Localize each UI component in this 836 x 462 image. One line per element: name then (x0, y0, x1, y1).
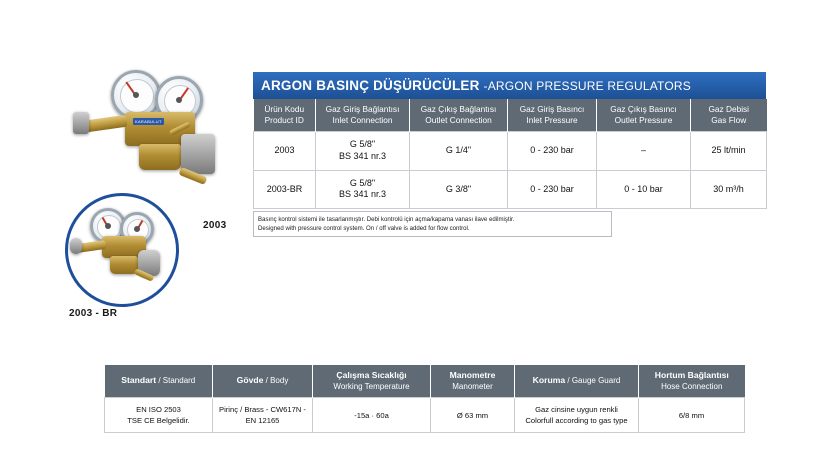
cell-gas-flow: 30 m³/h (691, 170, 767, 208)
product-photo-area: KARABULUT 2003 2003 - BR (55, 68, 250, 298)
col-inlet-pressure-en: Inlet Pressure (512, 115, 592, 126)
col-body-en: Body (270, 376, 288, 385)
col-outlet-connection: Gaz Çıkış Bağlantısı Outlet Connection (410, 99, 508, 132)
table-row: EN ISO 2503 TSE CE Belgelidir. Pirinç / … (105, 398, 745, 433)
cell-standard-line2: TSE CE Belgelidir. (108, 415, 209, 426)
col-standard-sep: / (156, 376, 163, 385)
cell-hose-connection: 6/8 mm (639, 398, 745, 433)
spec-table: Ürün Kodu Product ID Gaz Giriş Bağlantıs… (253, 99, 767, 209)
cell-inlet-connection-line2: BS 341 nr.3 (320, 189, 405, 201)
cell-product-id: 2003-BR (254, 170, 316, 208)
cell-inlet-pressure: 0 - 230 bar (508, 170, 597, 208)
col-hose-connection-tr: Hortum Bağlantısı (642, 370, 742, 382)
col-standard-en: Standard (163, 376, 195, 385)
section-title-tr: ARGON BASINÇ DÜŞÜRÜCÜLER (261, 78, 480, 93)
general-properties-table: Standart / Standard Gövde / Body Çalışma… (104, 365, 744, 433)
col-working-temperature-tr: Çalışma Sıcaklığı (316, 370, 427, 382)
cell-gauge-guard-line2: Colorfull according to gas type (518, 415, 635, 426)
cell-standard: EN ISO 2503 TSE CE Belgelidir. (105, 398, 213, 433)
col-working-temperature-en: Working Temperature (316, 382, 427, 393)
col-manometer-en: Manometer (434, 382, 511, 393)
regulator-lower-body (139, 144, 181, 170)
col-outlet-connection-en: Outlet Connection (414, 115, 503, 126)
note-box: Basınç kontrol sistemi ile tasarlanmıştı… (253, 211, 612, 237)
caption-product-2003: 2003 (203, 220, 226, 231)
cell-inlet-connection-line1: G 5/8" (320, 139, 405, 151)
cell-inlet-connection: G 5/8" BS 341 nr.3 (316, 170, 410, 208)
col-hose-connection-en: Hose Connection (642, 382, 742, 393)
bottom-table-header-row: Standart / Standard Gövde / Body Çalışma… (105, 365, 745, 398)
col-inlet-pressure: Gaz Giriş Basıncı Inlet Pressure (508, 99, 597, 132)
col-gauge-guard-tr: Koruma (533, 375, 565, 385)
col-outlet-pressure: Gaz Çıkış Basıncı Outlet Pressure (597, 99, 691, 132)
cell-inlet-connection-line1: G 5/8" (320, 178, 405, 190)
caption-product-2003-br: 2003 - BR (69, 308, 117, 319)
col-manometer-tr: Manometre (434, 370, 511, 382)
cell-inlet-connection: G 5/8" BS 341 nr.3 (316, 132, 410, 170)
col-gauge-guard: Koruma / Gauge Guard (515, 365, 639, 398)
cell-working-temperature: -15a · 60a (313, 398, 431, 433)
cell-body-line1: Pirinç / Brass - CW617N - (216, 404, 309, 415)
col-standard: Standart / Standard (105, 365, 213, 398)
col-gas-flow-en: Gas Flow (695, 115, 763, 126)
col-inlet-pressure-tr: Gaz Giriş Basıncı (512, 104, 592, 115)
cell-gauge-guard: Gaz cinsine uygun renkli Colorfull accor… (515, 398, 639, 433)
argon-regulators-block: ARGON BASINÇ DÜŞÜRÜCÜLER -ARGON PRESSURE… (253, 72, 766, 237)
cell-outlet-pressure: 0 - 10 bar (597, 170, 691, 208)
inset-inlet-nut (70, 238, 82, 254)
inlet-nut (73, 112, 89, 134)
col-inlet-connection: Gaz Giriş Bağlantısı Inlet Connection (316, 99, 410, 132)
col-outlet-pressure-en: Outlet Pressure (601, 115, 686, 126)
cell-outlet-connection: G 1/4" (410, 132, 508, 170)
brand-chip: KARABULUT (133, 118, 164, 125)
col-gas-flow: Gaz Debisi Gas Flow (691, 99, 767, 132)
note-line-tr: Basınç kontrol sistemi ile tasarlanmıştı… (258, 215, 607, 224)
cell-manometer: Ø 63 mm (431, 398, 515, 433)
product-inset-circle (65, 193, 179, 307)
col-gas-flow-tr: Gaz Debisi (695, 104, 763, 115)
section-title-en: -ARGON PRESSURE REGULATORS (484, 79, 691, 93)
col-body: Gövde / Body (213, 365, 313, 398)
col-product-id-en: Product ID (258, 115, 312, 126)
cell-inlet-pressure: 0 - 230 bar (508, 132, 597, 170)
col-body-tr: Gövde (237, 375, 264, 385)
col-working-temperature: Çalışma Sıcaklığı Working Temperature (313, 365, 431, 398)
regulator-main-illustration: KARABULUT (73, 68, 248, 193)
cell-outlet-pressure: – (597, 132, 691, 170)
table-row: 2003 G 5/8" BS 341 nr.3 G 1/4" 0 - 230 b… (254, 132, 767, 170)
col-product-id: Ürün Kodu Product ID (254, 99, 316, 132)
cell-product-id: 2003 (254, 132, 316, 170)
col-outlet-connection-tr: Gaz Çıkış Bağlantısı (414, 104, 503, 115)
col-standard-tr: Standart (121, 375, 156, 385)
col-gauge-guard-en: Gauge Guard (572, 376, 620, 385)
section-header: ARGON BASINÇ DÜŞÜRÜCÜLER -ARGON PRESSURE… (253, 72, 766, 99)
col-inlet-connection-tr: Gaz Giriş Bağlantısı (320, 104, 405, 115)
col-hose-connection: Hortum Bağlantısı Hose Connection (639, 365, 745, 398)
table-row: 2003-BR G 5/8" BS 341 nr.3 G 3/8" 0 - 23… (254, 170, 767, 208)
col-outlet-pressure-tr: Gaz Çıkış Basıncı (601, 104, 686, 115)
col-product-id-tr: Ürün Kodu (258, 104, 312, 115)
cell-body-line2: EN 12165 (216, 415, 309, 426)
col-manometer: Manometre Manometer (431, 365, 515, 398)
cell-outlet-connection: G 3/8" (410, 170, 508, 208)
cell-standard-line1: EN ISO 2503 (108, 404, 209, 415)
col-gauge-guard-sep: / (565, 376, 572, 385)
col-inlet-connection-en: Inlet Connection (320, 115, 405, 126)
spec-table-header-row: Ürün Kodu Product ID Gaz Giriş Bağlantıs… (254, 99, 767, 132)
cell-gas-flow: 25 lt/min (691, 132, 767, 170)
note-line-en: Designed with pressure control system. O… (258, 224, 607, 233)
cell-inlet-connection-line2: BS 341 nr.3 (320, 151, 405, 163)
cell-body: Pirinç / Brass - CW617N - EN 12165 (213, 398, 313, 433)
cell-gauge-guard-line1: Gaz cinsine uygun renkli (518, 404, 635, 415)
